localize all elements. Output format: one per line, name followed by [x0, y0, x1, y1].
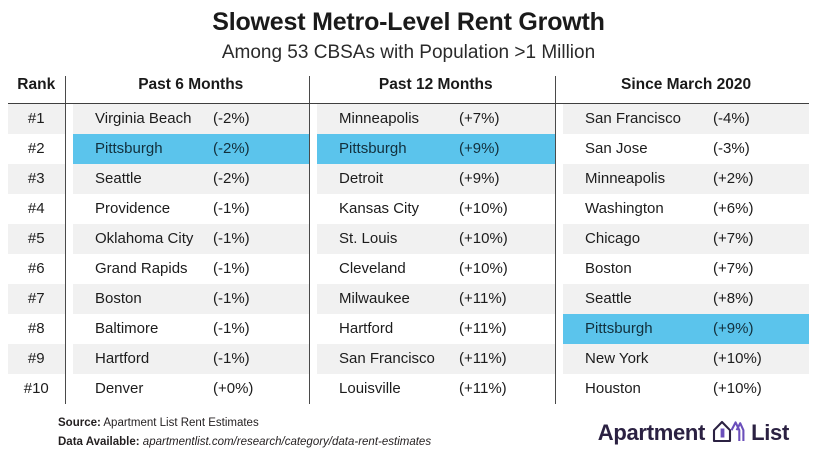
column-header-since-march-2020: Since March 2020: [563, 76, 809, 104]
column-divider-2: [309, 194, 317, 224]
cell-rank: #1: [8, 103, 65, 134]
table-row: #10Denver(+0%)Louisville(+11%)Houston(+1…: [8, 374, 809, 404]
cell-value-since-march-2020: (-3%): [711, 134, 809, 164]
table-row: #8Baltimore(-1%)Hartford(+11%)Pittsburgh…: [8, 314, 809, 344]
cell-rank: #2: [8, 134, 65, 164]
cell-value-past-12-months: (+10%): [457, 224, 555, 254]
cell-metro-past-12-months: Minneapolis: [317, 103, 457, 134]
cell-value-past-6-months: (-1%): [211, 194, 309, 224]
cell-metro-past-12-months: Pittsburgh: [317, 134, 457, 164]
source-label: Source:: [58, 417, 101, 429]
column-divider-1: [65, 314, 73, 344]
cell-value-past-12-months: (+9%): [457, 134, 555, 164]
cell-value-since-march-2020: (+7%): [711, 224, 809, 254]
table-row: #9Hartford(-1%)San Francisco(+11%)New Yo…: [8, 344, 809, 374]
column-divider-3: [555, 224, 563, 254]
cell-metro-past-6-months: Seattle: [73, 164, 211, 194]
cell-metro-past-12-months: Detroit: [317, 164, 457, 194]
cell-metro-past-6-months: Providence: [73, 194, 211, 224]
column-divider-1: [65, 76, 73, 104]
column-divider-3: [555, 374, 563, 404]
cell-metro-since-march-2020: Houston: [563, 374, 711, 404]
column-header-past-6-months: Past 6 Months: [73, 76, 309, 104]
column-divider-3: [555, 76, 563, 104]
column-divider-1: [65, 194, 73, 224]
cell-value-since-march-2020: (+2%): [711, 164, 809, 194]
cell-metro-since-march-2020: Pittsburgh: [563, 314, 711, 344]
cell-value-past-6-months: (-1%): [211, 284, 309, 314]
column-divider-3: [555, 254, 563, 284]
column-divider-3: [555, 164, 563, 194]
cell-value-past-12-months: (+11%): [457, 284, 555, 314]
cell-value-since-march-2020: (+10%): [711, 374, 809, 404]
cell-value-since-march-2020: (+9%): [711, 314, 809, 344]
column-divider-2: [309, 284, 317, 314]
cell-metro-past-12-months: Cleveland: [317, 254, 457, 284]
column-divider-1: [65, 374, 73, 404]
cell-value-past-12-months: (+11%): [457, 314, 555, 344]
cell-rank: #5: [8, 224, 65, 254]
table-row: #4Providence(-1%)Kansas City(+10%)Washin…: [8, 194, 809, 224]
cell-value-since-march-2020: (+10%): [711, 344, 809, 374]
column-divider-2: [309, 314, 317, 344]
column-header-rank: Rank: [8, 76, 65, 104]
column-divider-3: [555, 344, 563, 374]
cell-rank: #9: [8, 344, 65, 374]
table-container: Rank Past 6 Months Past 12 Months Since …: [0, 76, 817, 404]
cell-value-past-6-months: (-1%): [211, 314, 309, 344]
column-divider-1: [65, 103, 73, 134]
cell-value-since-march-2020: (+7%): [711, 254, 809, 284]
cell-value-past-6-months: (-2%): [211, 164, 309, 194]
column-divider-1: [65, 164, 73, 194]
rent-growth-table: Rank Past 6 Months Past 12 Months Since …: [8, 76, 809, 404]
cell-metro-since-march-2020: Washington: [563, 194, 711, 224]
column-divider-1: [65, 134, 73, 164]
page-title: Slowest Metro-Level Rent Growth: [0, 8, 817, 37]
cell-metro-past-6-months: Grand Rapids: [73, 254, 211, 284]
column-divider-3: [555, 194, 563, 224]
cell-value-past-6-months: (-2%): [211, 134, 309, 164]
cell-metro-past-6-months: Baltimore: [73, 314, 211, 344]
cell-value-past-12-months: (+11%): [457, 374, 555, 404]
table-body: #1Virginia Beach(-2%)Minneapolis(+7%)San…: [8, 103, 809, 404]
logo-word-list: List: [751, 420, 789, 446]
data-available-note: Data Available: apartmentlist.com/resear…: [58, 433, 431, 452]
cell-rank: #10: [8, 374, 65, 404]
cell-value-past-12-months: (+10%): [457, 254, 555, 284]
apartment-list-logo: Apartment List: [598, 417, 789, 450]
cell-metro-since-march-2020: Chicago: [563, 224, 711, 254]
cell-value-past-6-months: (-1%): [211, 254, 309, 284]
cell-metro-since-march-2020: Minneapolis: [563, 164, 711, 194]
cell-metro-since-march-2020: San Francisco: [563, 103, 711, 134]
cell-metro-past-6-months: Oklahoma City: [73, 224, 211, 254]
cell-metro-past-12-months: Louisville: [317, 374, 457, 404]
cell-metro-since-march-2020: New York: [563, 344, 711, 374]
cell-metro-past-6-months: Hartford: [73, 344, 211, 374]
cell-rank: #8: [8, 314, 65, 344]
column-divider-3: [555, 284, 563, 314]
column-divider-3: [555, 314, 563, 344]
cell-value-past-6-months: (-1%): [211, 224, 309, 254]
table-row: #3Seattle(-2%)Detroit(+9%)Minneapolis(+2…: [8, 164, 809, 194]
cell-value-since-march-2020: (+6%): [711, 194, 809, 224]
cell-metro-past-12-months: Hartford: [317, 314, 457, 344]
cell-value-since-march-2020: (-4%): [711, 103, 809, 134]
table-header: Rank Past 6 Months Past 12 Months Since …: [8, 76, 809, 104]
footnotes: Source: Apartment List Rent Estimates Da…: [58, 414, 431, 452]
cell-metro-past-12-months: St. Louis: [317, 224, 457, 254]
column-divider-2: [309, 254, 317, 284]
cell-value-past-6-months: (-1%): [211, 344, 309, 374]
logo-word-apartment: Apartment: [598, 420, 705, 446]
table-row: #2Pittsburgh(-2%)Pittsburgh(+9%)San Jose…: [8, 134, 809, 164]
table-row: #5Oklahoma City(-1%)St. Louis(+10%)Chica…: [8, 224, 809, 254]
cell-metro-past-12-months: Milwaukee: [317, 284, 457, 314]
cell-rank: #7: [8, 284, 65, 314]
title-block: Slowest Metro-Level Rent Growth Among 53…: [0, 0, 817, 64]
column-divider-2: [309, 344, 317, 374]
column-divider-3: [555, 134, 563, 164]
column-divider-2: [309, 103, 317, 134]
column-divider-2: [309, 224, 317, 254]
cell-metro-past-12-months: Kansas City: [317, 194, 457, 224]
table-row: #1Virginia Beach(-2%)Minneapolis(+7%)San…: [8, 103, 809, 134]
data-available-label: Data Available:: [58, 436, 140, 448]
house-chevron-icon: [711, 417, 745, 450]
cell-metro-since-march-2020: San Jose: [563, 134, 711, 164]
source-text: Apartment List Rent Estimates: [101, 417, 259, 429]
cell-metro-past-12-months: San Francisco: [317, 344, 457, 374]
footer: Source: Apartment List Rent Estimates Da…: [0, 407, 817, 459]
source-note: Source: Apartment List Rent Estimates: [58, 414, 431, 433]
cell-rank: #6: [8, 254, 65, 284]
cell-rank: #3: [8, 164, 65, 194]
column-header-past-12-months: Past 12 Months: [317, 76, 555, 104]
column-divider-1: [65, 344, 73, 374]
data-available-url[interactable]: apartmentlist.com/research/category/data…: [140, 436, 431, 448]
cell-value-since-march-2020: (+8%): [711, 284, 809, 314]
page-subtitle: Among 53 CBSAs with Population >1 Millio…: [0, 42, 817, 64]
column-divider-2: [309, 164, 317, 194]
cell-metro-since-march-2020: Boston: [563, 254, 711, 284]
column-divider-3: [555, 103, 563, 134]
column-divider-1: [65, 284, 73, 314]
cell-metro-past-6-months: Denver: [73, 374, 211, 404]
cell-value-past-12-months: (+9%): [457, 164, 555, 194]
column-divider-2: [309, 374, 317, 404]
column-divider-2: [309, 134, 317, 164]
cell-value-past-12-months: (+7%): [457, 103, 555, 134]
cell-metro-past-6-months: Boston: [73, 284, 211, 314]
column-divider-1: [65, 224, 73, 254]
cell-metro-past-6-months: Pittsburgh: [73, 134, 211, 164]
column-divider-1: [65, 254, 73, 284]
table-row: #7Boston(-1%)Milwaukee(+11%)Seattle(+8%): [8, 284, 809, 314]
cell-value-past-6-months: (-2%): [211, 103, 309, 134]
cell-metro-since-march-2020: Seattle: [563, 284, 711, 314]
column-divider-2: [309, 76, 317, 104]
cell-metro-past-6-months: Virginia Beach: [73, 103, 211, 134]
cell-value-past-12-months: (+10%): [457, 194, 555, 224]
table-row: #6Grand Rapids(-1%)Cleveland(+10%)Boston…: [8, 254, 809, 284]
cell-rank: #4: [8, 194, 65, 224]
cell-value-past-12-months: (+11%): [457, 344, 555, 374]
cell-value-past-6-months: (+0%): [211, 374, 309, 404]
